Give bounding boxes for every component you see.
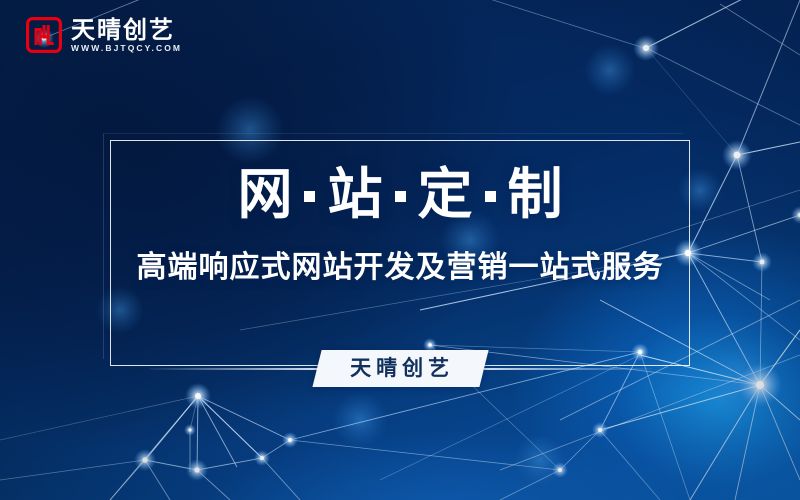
logo-text-group: 天晴创艺 WWW.BJTQCY.COM	[71, 18, 182, 53]
badge-rule-left	[149, 368, 317, 370]
badge-rule-right	[484, 368, 652, 370]
logo-website-url: WWW.BJTQCY.COM	[71, 44, 182, 53]
brand-badge: 天晴创艺	[312, 350, 488, 387]
website-customization-banner: 天晴创艺 WWW.BJTQCY.COM 网 站 定 制 高端响应式网站开发及营销…	[0, 0, 800, 500]
brand-badge-label: 天晴创艺	[347, 356, 454, 380]
tqcy-square-logo-icon	[26, 17, 62, 53]
logo-company-name: 天晴创艺	[71, 18, 182, 42]
brand-logo[interactable]: 天晴创艺 WWW.BJTQCY.COM	[26, 17, 182, 53]
brand-badge-row: 天晴创艺	[0, 352, 800, 386]
hero-frame-border	[110, 140, 690, 366]
